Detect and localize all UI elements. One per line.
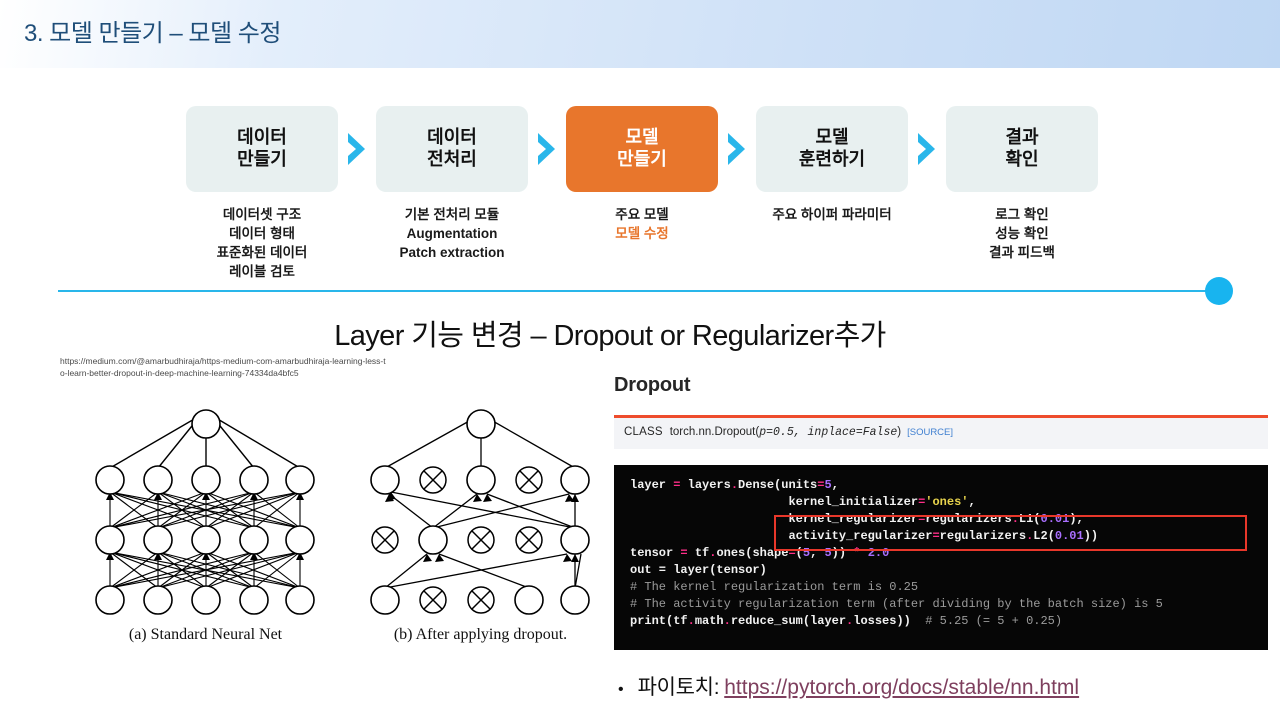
stage-title-line2: 만들기 xyxy=(617,149,667,171)
chevron-right-icon-3 xyxy=(718,106,756,192)
code-line-1: layer = layers.Dense(units=5, xyxy=(614,477,1268,494)
pipeline-flow: 데이터 만들기 데이터셋 구조 데이터 형태 표준화된 데이터 레이블 검토 데… xyxy=(186,106,1196,282)
code-indent xyxy=(630,529,788,543)
section-divider-line xyxy=(58,290,1208,292)
code-token: . xyxy=(731,478,738,492)
stage-box-result-check[interactable]: 결과 확인 xyxy=(946,106,1098,192)
pipeline-stage-3[interactable]: 모델 만들기 주요 모델 모델 수정 xyxy=(566,106,718,243)
stage-sub-line: 표준화된 데이터 xyxy=(217,243,308,262)
code-token: losses)) xyxy=(853,614,911,628)
chevron-right-icon-1 xyxy=(338,106,376,192)
section-divider-dot xyxy=(1205,277,1233,305)
code-line-8: # The activity regularization term (afte… xyxy=(614,596,1268,613)
stage-title-line2: 확인 xyxy=(1005,149,1038,171)
code-line-3: kernel_regularizer=regularizers.L1(0.01)… xyxy=(614,511,1268,528)
bullet-label: 파이토치: xyxy=(638,671,720,701)
stage-sub-line: 데이터셋 구조 xyxy=(217,205,308,224)
code-token: kernel_initializer xyxy=(788,495,918,509)
code-token: Dense(units xyxy=(738,478,817,492)
bottom-bullet-item: • 파이토치: https://pytorch.org/docs/stable/… xyxy=(618,671,1079,701)
code-token: . xyxy=(724,614,731,628)
code-token: ), xyxy=(1069,512,1083,526)
code-indent xyxy=(630,512,788,526)
stage-sub-line: 주요 모델 xyxy=(615,205,668,224)
chevron-right-icon-2 xyxy=(528,106,566,192)
code-token: 5 xyxy=(803,546,810,560)
figure-source-url: https://medium.com/@amarbudhiraja/https-… xyxy=(60,355,390,380)
code-line-6: out = layer(tensor) xyxy=(614,562,1268,579)
code-line-2: kernel_initializer='ones', xyxy=(614,494,1268,511)
pipeline-stage-2[interactable]: 데이터 전처리 기본 전처리 모듈 Augmentation Patch ext… xyxy=(376,106,528,262)
stage-title-line2: 만들기 xyxy=(237,149,287,171)
dropout-neural-net-diagram xyxy=(353,382,608,622)
figure-standard-neural-net: (a) Standard Neural Net xyxy=(78,382,333,644)
code-token: tensor xyxy=(630,546,680,560)
code-line-5: tensor = tf.ones(shape=(5, 5)) * 2.0 xyxy=(614,545,1268,562)
code-token: , xyxy=(832,478,839,492)
pipeline-stage-5[interactable]: 결과 확인 로그 확인 성능 확인 결과 피드백 xyxy=(946,106,1098,262)
code-token: 'ones' xyxy=(925,495,968,509)
stage-title-line1: 모델 xyxy=(625,127,658,149)
code-token: kernel_regularizer xyxy=(788,512,918,526)
stage-sub-line-accent: 모델 수정 xyxy=(615,224,668,243)
code-token: = xyxy=(932,529,939,543)
code-block: layer = layers.Dense(units=5, kernel_ini… xyxy=(614,465,1268,650)
stage-sub-line: 성능 확인 xyxy=(989,224,1055,243)
stage-sub-3: 주요 모델 모델 수정 xyxy=(615,205,668,243)
stage-sub-5: 로그 확인 성능 확인 결과 피드백 xyxy=(989,205,1055,262)
figure-caption-b: (b) After applying dropout. xyxy=(353,626,608,644)
class-signature-bar: CLASStorch.nn.Dropout(p=0.5, inplace=Fal… xyxy=(614,415,1268,449)
bullet-dot-icon: • xyxy=(618,681,624,699)
code-token: . xyxy=(1012,512,1019,526)
pytorch-docs-link[interactable]: https://pytorch.org/docs/stable/nn.html xyxy=(724,676,1079,700)
stage-box-model-create-active[interactable]: 모델 만들기 xyxy=(566,106,718,192)
stage-box-model-train[interactable]: 모델 훈련하기 xyxy=(756,106,908,192)
chevron-right-icon-4 xyxy=(908,106,946,192)
stage-title-line1: 결과 xyxy=(1005,127,1038,149)
stage-sub-line: Augmentation xyxy=(399,224,504,243)
stage-sub-2: 기본 전처리 모듈 Augmentation Patch extraction xyxy=(399,205,504,262)
stage-title-line1: 데이터 xyxy=(237,127,287,149)
code-line-7: # The kernel regularization term is 0.25 xyxy=(614,579,1268,596)
code-token: ( xyxy=(796,546,803,560)
code-token: math xyxy=(695,614,724,628)
code-token: , xyxy=(968,495,975,509)
code-token: )) xyxy=(1084,529,1098,543)
stage-sub-4: 주요 하이퍼 파라미터 xyxy=(772,205,891,224)
code-token: 5 xyxy=(824,478,831,492)
pipeline-stage-1[interactable]: 데이터 만들기 데이터셋 구조 데이터 형태 표준화된 데이터 레이블 검토 xyxy=(186,106,338,282)
code-token: = xyxy=(788,546,795,560)
code-token: L1( xyxy=(1019,512,1041,526)
stage-title-line2: 전처리 xyxy=(427,149,477,171)
stage-title-line2: 훈련하기 xyxy=(799,149,865,171)
code-token: 0.01 xyxy=(1055,529,1084,543)
code-token: out = layer(tensor) xyxy=(630,563,767,577)
code-token: * xyxy=(846,546,868,560)
code-token: L2( xyxy=(1033,529,1055,543)
stage-box-data-preprocess[interactable]: 데이터 전처리 xyxy=(376,106,528,192)
stage-sub-line: 기본 전처리 모듈 xyxy=(399,205,504,224)
class-args: p=0.5, inplace=False xyxy=(759,426,897,439)
code-token: = xyxy=(680,546,687,560)
code-token: , xyxy=(810,546,824,560)
stage-title-line1: 데이터 xyxy=(427,127,477,149)
code-token: 5 xyxy=(824,546,831,560)
neural-net-figures: (a) Standard Neural Net xyxy=(78,382,608,644)
stage-box-data-create[interactable]: 데이터 만들기 xyxy=(186,106,338,192)
docs-heading: Dropout xyxy=(614,374,1268,397)
code-token: layers xyxy=(680,478,730,492)
code-token: ones(shape xyxy=(716,546,788,560)
code-token: regularizers xyxy=(925,512,1011,526)
code-token: 0.01 xyxy=(1041,512,1070,526)
page-title: 3. 모델 만들기 – 모델 수정 xyxy=(24,13,281,48)
stage-sub-line: Patch extraction xyxy=(399,243,504,262)
code-token: 2.0 xyxy=(868,546,890,560)
pipeline-stage-4[interactable]: 모델 훈련하기 주요 하이퍼 파라미터 xyxy=(756,106,908,224)
code-line-9: print(tf.math.reduce_sum(layer.losses)) … xyxy=(614,613,1268,630)
figure-caption-a: (a) Standard Neural Net xyxy=(78,626,333,644)
figure-after-dropout: (b) After applying dropout. xyxy=(353,382,608,644)
class-path: torch.nn.Dropout( xyxy=(670,426,760,438)
code-token: activity_regularizer xyxy=(788,529,932,543)
code-comment: # The kernel regularization term is 0.25 xyxy=(630,580,918,594)
pytorch-docs-panel: Dropout CLASStorch.nn.Dropout(p=0.5, inp… xyxy=(614,374,1268,449)
code-token: print(tf xyxy=(630,614,688,628)
code-indent xyxy=(630,495,788,509)
stage-title-line1: 모델 xyxy=(815,127,848,149)
code-token: . xyxy=(688,614,695,628)
code-comment: # The activity regularization term (afte… xyxy=(630,597,1163,611)
standard-neural-net-diagram xyxy=(78,382,333,622)
code-token: layer xyxy=(630,478,673,492)
stage-sub-line: 결과 피드백 xyxy=(989,243,1055,262)
code-token: regularizers xyxy=(940,529,1026,543)
code-line-4: activity_regularizer=regularizers.L2(0.0… xyxy=(614,528,1268,545)
stage-sub-line: 로그 확인 xyxy=(989,205,1055,224)
stage-sub-line: 레이블 검토 xyxy=(217,262,308,281)
stage-sub-line: 주요 하이퍼 파라미터 xyxy=(772,205,891,224)
code-token: tf xyxy=(688,546,710,560)
stage-sub-line: 데이터 형태 xyxy=(217,224,308,243)
class-close-paren: ) xyxy=(897,426,901,438)
code-comment: # 5.25 (= 5 + 0.25) xyxy=(911,614,1062,628)
source-link[interactable]: [SOURCE] xyxy=(907,427,953,438)
section-title: Layer 기능 변경 – Dropout or Regularizer추가 xyxy=(0,312,1220,354)
code-token: )) xyxy=(832,546,846,560)
stage-sub-1: 데이터셋 구조 데이터 형태 표준화된 데이터 레이블 검토 xyxy=(217,205,308,282)
code-token: reduce_sum(layer xyxy=(731,614,846,628)
class-keyword: CLASS xyxy=(624,426,663,438)
